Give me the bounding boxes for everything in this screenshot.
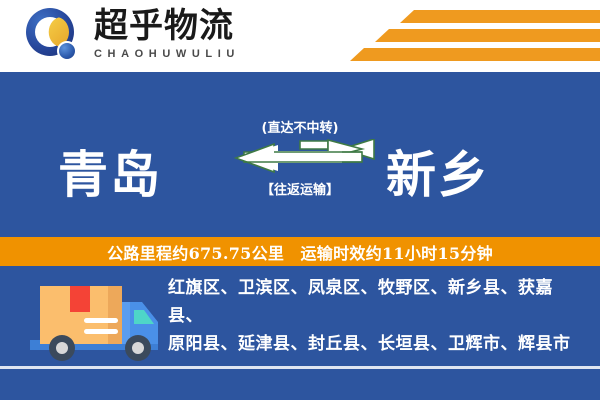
distance-duration-text: 公路里程约675.75公里 运输时效约11小时15分钟 (107, 240, 493, 264)
banner-body: 青岛 (直达不中转) 【往返运输】 新乡 (0, 72, 600, 400)
brand-name-cn: 超乎物流 (94, 6, 284, 46)
coverage-line-1: 红旗区、卫滨区、凤泉区、牧野区、新乡县、获嘉县、 (168, 274, 584, 330)
delivery-truck-icon (26, 272, 168, 368)
destination-city-label: 新乡 (386, 147, 490, 203)
direct-service-note: (直达不中转) (222, 117, 378, 136)
orange-stripes-decoration (350, 8, 600, 66)
brand-lockup: 超乎物流 CHAOHUWULIU (94, 6, 284, 68)
logistics-route-banner: 超乎物流 CHAOHUWULIU 青岛 (直达不中转) (0, 0, 600, 400)
stripe-top (400, 10, 600, 23)
distance-duration-strip: 公路里程约675.75公里 运输时效约11小时15分钟 (0, 237, 600, 266)
coverage-line-2: 原阳县、延津县、封丘县、长垣县、卫辉市、辉县市 (168, 330, 584, 358)
coverage-area-list: 红旗区、卫滨区、凤泉区、牧野区、新乡县、获嘉县、 原阳县、延津县、封丘县、长垣县… (168, 274, 584, 358)
stripe-middle (375, 29, 600, 42)
logo-dot-shape (57, 41, 77, 61)
origin-city-label: 青岛 (58, 147, 162, 203)
brand-name-en: CHAOHUWULIU (94, 48, 284, 60)
stripe-bottom (350, 48, 600, 61)
coverage-section: 红旗区、卫滨区、凤泉区、牧野区、新乡县、获嘉县、 原阳县、延津县、封丘县、长垣县… (0, 266, 600, 400)
road-divider-line (0, 366, 600, 369)
bidirectional-arrow-icon (222, 139, 378, 179)
banner-header: 超乎物流 CHAOHUWULIU (0, 0, 600, 72)
route-arrow-block: (直达不中转) 【往返运输】 (222, 117, 378, 232)
chaohu-q-logo-icon (26, 8, 84, 66)
round-trip-note: 【往返运输】 (222, 179, 378, 198)
route-row: 青岛 (直达不中转) 【往返运输】 新乡 (0, 117, 600, 242)
